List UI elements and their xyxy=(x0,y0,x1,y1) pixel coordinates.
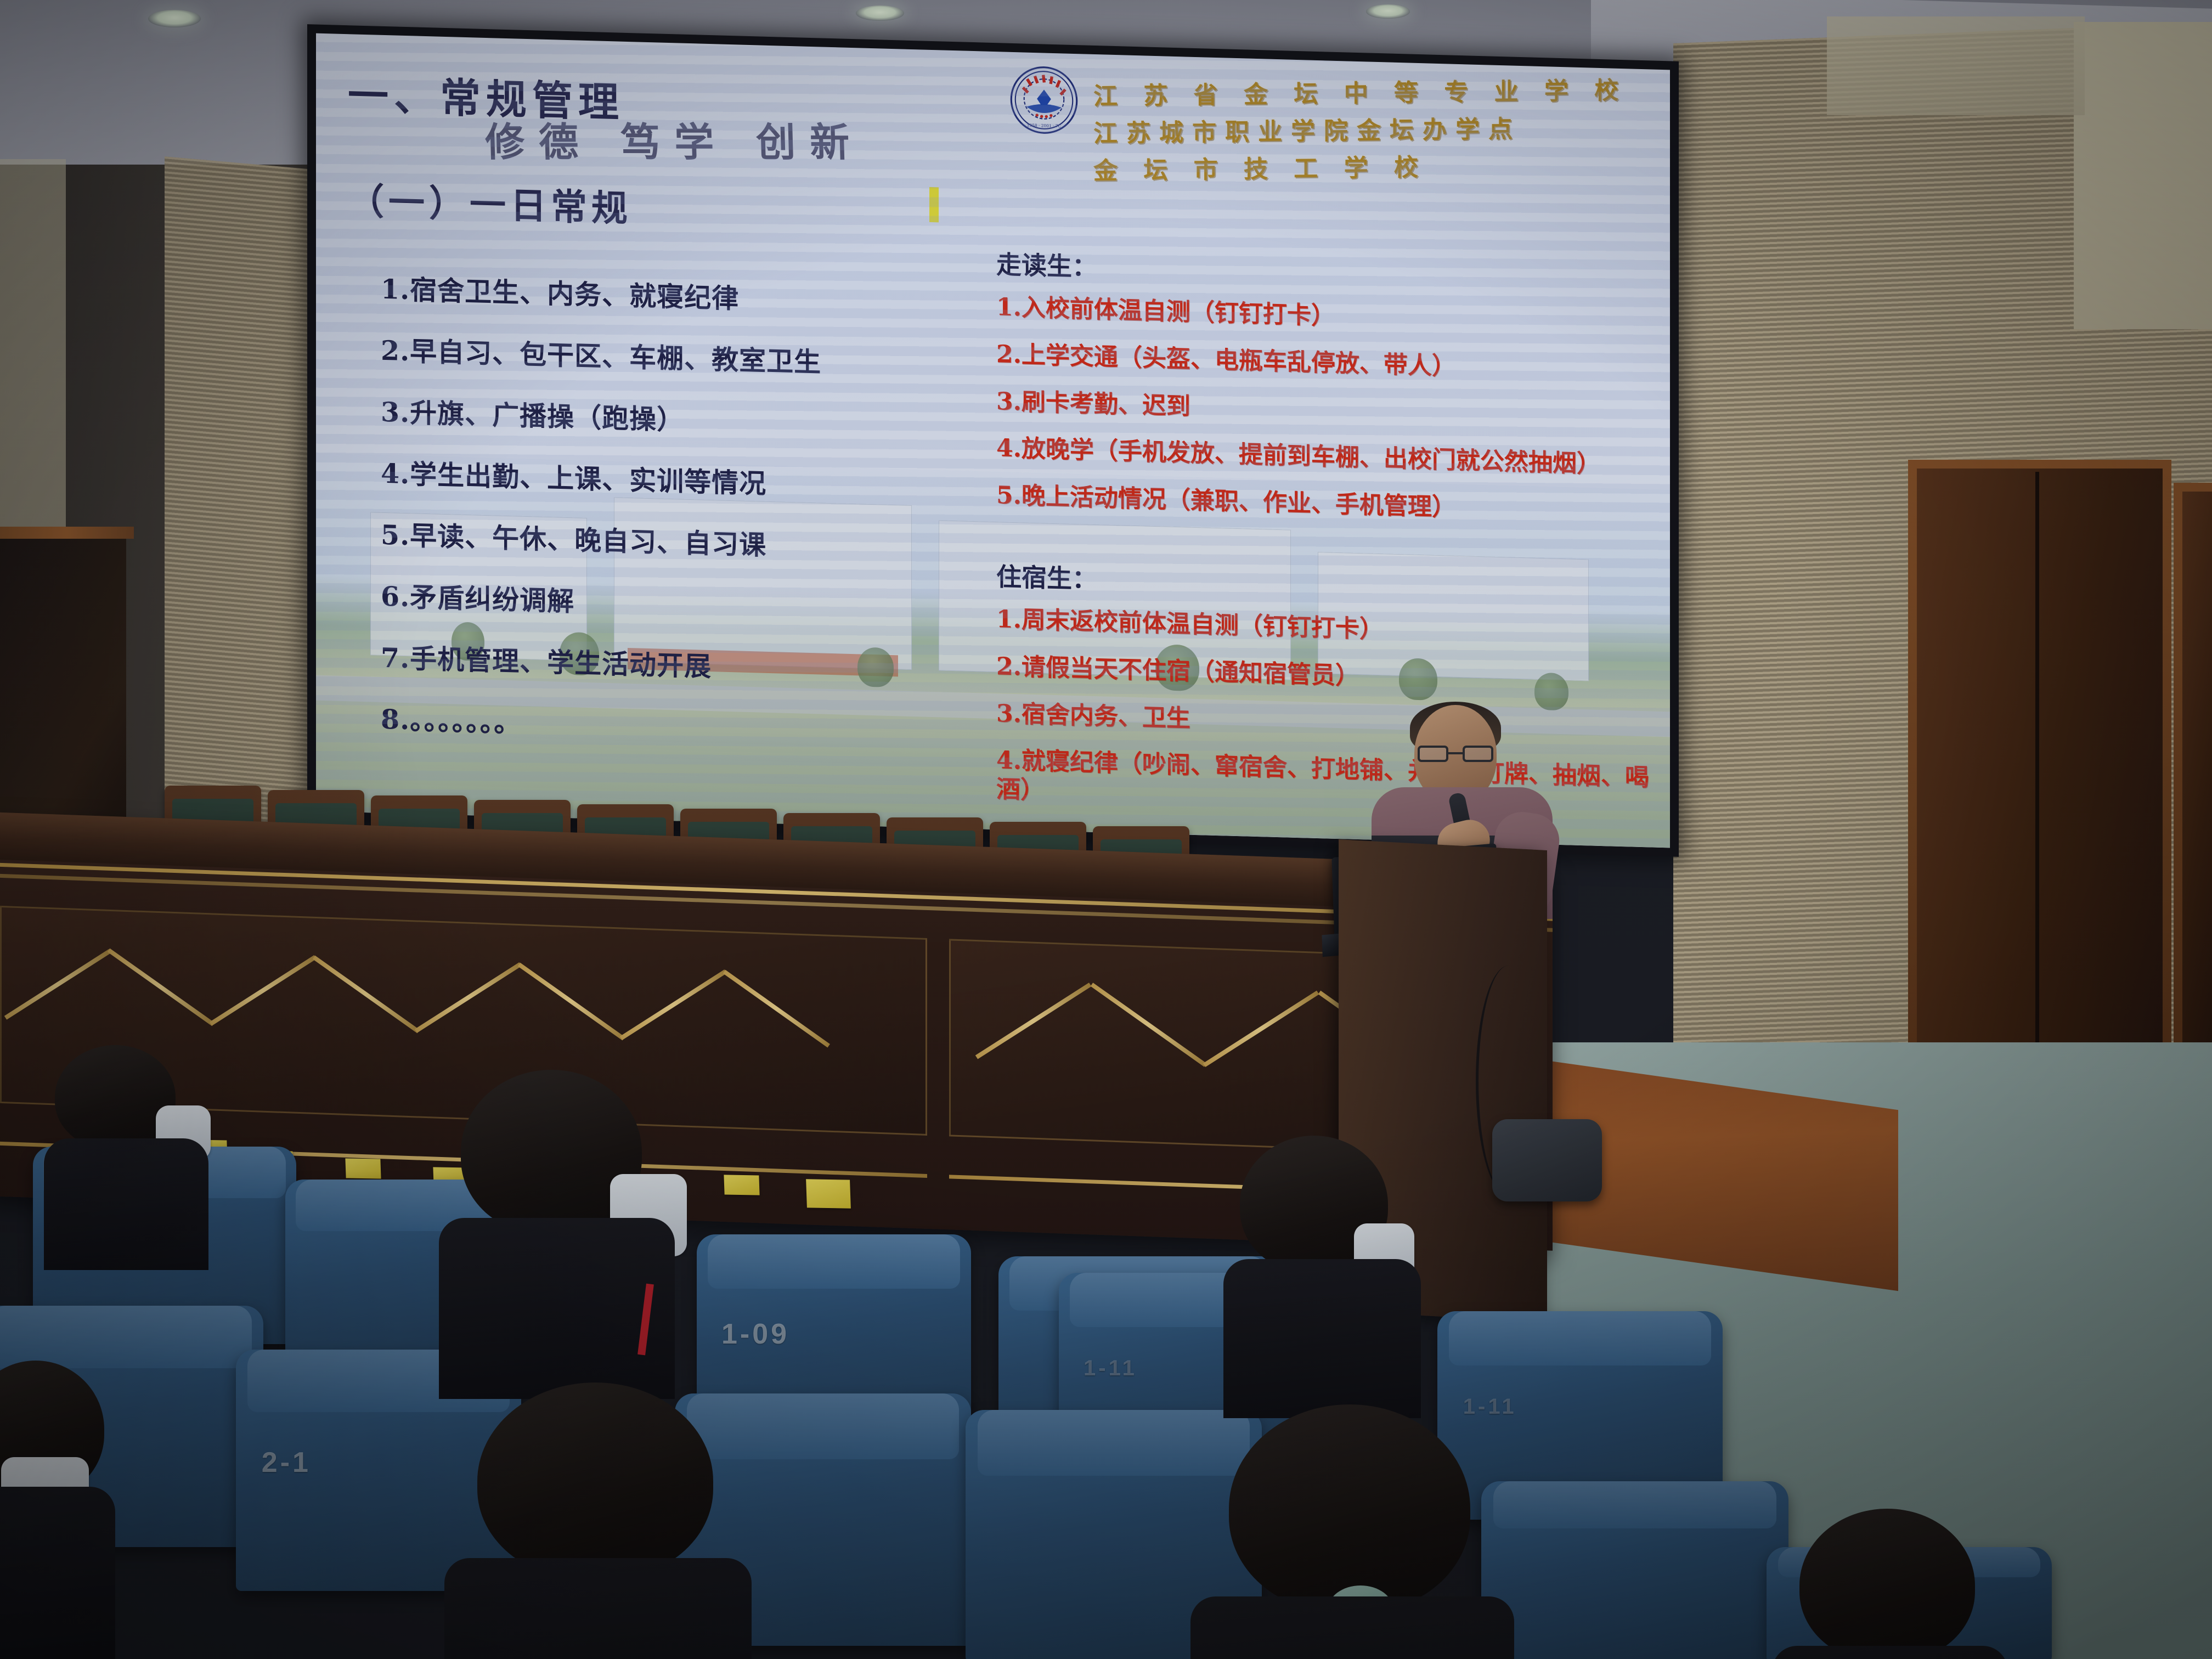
school-name-line-1: 江 苏 省 金 坛 中 等 专 业 学 校 xyxy=(1093,71,1627,112)
group-heading-day-students: 走读生： xyxy=(996,245,1670,299)
seat-number: 1-11 xyxy=(1463,1395,1517,1419)
svg-text:1958 · 2001 · 7C: 1958 · 2001 · 7C xyxy=(1027,123,1062,129)
slide-subtitle: （一）一日常规 xyxy=(348,172,632,232)
list-item: 2.早自习、包干区、车棚、教室卫生 xyxy=(381,329,918,383)
day-student-rules-list: 1.入校前体温自测（钉钉打卡） 2.上学交通（头盔、电瓶车乱停放、带人） 3.刷… xyxy=(996,293,1670,528)
list-item: 4.就寝纪律（吵闹、窜宿舍、打地铺、并床、打牌、抽烟、喝酒） xyxy=(996,747,1670,823)
door-seam xyxy=(2035,472,2039,1097)
downlight-icon xyxy=(856,5,904,21)
list-item: 2.请假当天不住宿（通知宿管员） xyxy=(996,652,1670,699)
school-header: 1958 · 2001 · 7C 江 苏 省 金 坛 中 等 专 业 学 校 江… xyxy=(1009,64,1627,191)
list-item: 2.上学交通（头盔、电瓶车乱停放、带人） xyxy=(996,340,1670,387)
student-groups-column: 走读生： 1.入校前体温自测（钉钉打卡） 2.上学交通（头盔、电瓶车乱停放、带人… xyxy=(996,245,1670,840)
school-name-lines: 江 苏 省 金 坛 中 等 专 业 学 校 江苏城市职业学院金坛办学点 金 坛 … xyxy=(1093,71,1627,187)
list-item: 6.矛盾纠纷调解 xyxy=(381,575,918,629)
auditorium-scene: 1958 · 2001 · 7C 江 苏 省 金 坛 中 等 专 业 学 校 江… xyxy=(0,0,2212,1659)
list-item: 5.晚上活动情况（兼职、作业、手机管理） xyxy=(996,481,1670,528)
list-item: 3.升旗、广播操（跑操） xyxy=(381,391,918,444)
school-name-line-2: 江苏城市职业学院金坛办学点 xyxy=(1093,108,1627,149)
school-name-line-3: 金 坛 市 技 工 学 校 xyxy=(1093,145,1627,187)
downlight-icon xyxy=(148,10,201,27)
boarding-student-rules-list: 1.周末返校前体温自测（钉钉打卡） 2.请假当天不住宿（通知宿管员） 3.宿舍内… xyxy=(996,605,1670,822)
note-pad[interactable] xyxy=(345,1158,381,1178)
door-right-main[interactable] xyxy=(1908,460,2171,1107)
list-item: 3.刷卡考勤、迟到 xyxy=(996,387,1670,435)
note-pad[interactable] xyxy=(724,1175,759,1195)
school-motto-watermark: 修德 笃学 创新 xyxy=(484,110,865,168)
seat-number: 1-09 xyxy=(721,1318,789,1351)
seat-number: 1-11 xyxy=(1084,1356,1137,1381)
list-item: 8.。。。。。。。 xyxy=(381,698,918,752)
list-item: 3.宿舍内务、卫生 xyxy=(996,699,1670,747)
downlight-icon xyxy=(1366,4,1410,19)
list-item: 7.手机管理、学生活动开展 xyxy=(381,636,918,690)
audience-seat[interactable] xyxy=(1481,1481,1788,1659)
seat-number: 2-1 xyxy=(262,1446,311,1479)
eyeglasses-icon xyxy=(1418,746,1493,762)
text-cursor-caret xyxy=(929,187,939,222)
wall-cream-right xyxy=(2074,22,2212,329)
slide-title-block: 一、常规管理 修德 笃学 创新 （一）一日常规 xyxy=(348,63,632,232)
wall-cream-upper-right xyxy=(1827,16,2085,115)
note-pad[interactable] xyxy=(806,1179,851,1208)
list-item: 1.宿舍卫生、内务、就寝纪律 xyxy=(381,268,918,321)
school-crest-icon: 1958 · 2001 · 7C xyxy=(1009,64,1079,136)
door-right-far[interactable] xyxy=(2174,483,2212,1097)
list-item: 1.入校前体温自测（钉钉打卡） xyxy=(996,293,1670,340)
list-item: 5.早读、午休、晚自习、自习课 xyxy=(381,513,918,567)
list-item: 4.学生出勤、上课、实训等情况 xyxy=(381,452,918,506)
list-item: 1.周末返校前体温自测（钉钉打卡） xyxy=(996,605,1670,652)
list-item: 4.放晚学（手机发放、提前到车棚、出校门就公然抽烟） xyxy=(996,435,1670,482)
backpack[interactable] xyxy=(1492,1119,1602,1201)
daily-routine-list: 1.宿舍卫生、内务、就寝纪律 2.早自习、包干区、车棚、教室卫生 3.升旗、广播… xyxy=(381,268,918,774)
door-frame-left xyxy=(0,527,134,539)
